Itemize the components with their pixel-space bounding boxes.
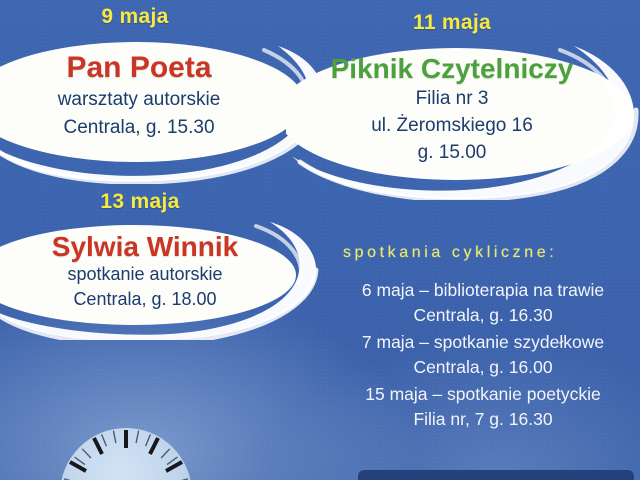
event-card-text: Piknik Czytelniczy Filia nr 3 ul. Żeroms…	[302, 54, 602, 165]
event-card-piknik-czytelniczy: 11 maja Piknik Czytelniczy Filia nr 3 ul…	[292, 0, 640, 210]
cyclic-meeting-item: 6 maja – biblioterapia na trawie Central…	[334, 278, 632, 329]
event-title: Pan Poeta	[0, 52, 278, 83]
event-line-2: ul. Żeromskiego 16	[302, 114, 602, 137]
bottom-accent-bar	[358, 470, 634, 480]
poster-canvas: 9 maja Pan Poeta warsztaty autorskie Cen…	[0, 0, 640, 480]
cyclic-meeting-item: 7 maja – spotkanie szydełkowe Centrala, …	[334, 330, 632, 381]
event-card-pan-poeta: 9 maja Pan Poeta warsztaty autorskie Cen…	[0, 0, 330, 200]
cyclic-meeting-place: Centrala, g. 16.00	[334, 355, 632, 380]
cyclic-meetings-section: spotkania cykliczne: 6 maja – bibliotera…	[334, 244, 632, 433]
event-date-label: 11 maja	[322, 11, 582, 35]
event-date-label: 13 maja	[0, 190, 280, 214]
cyclic-meeting-place: Centrala, g. 16.30	[334, 303, 632, 328]
event-card-sylwia-winnik: 13 maja Sylwia Winnik spotkanie autorski…	[0, 190, 330, 340]
event-card-text: Sylwia Winnik spotkanie autorskie Centra…	[0, 232, 290, 311]
event-card-text: Pan Poeta warsztaty autorskie Centrala, …	[0, 52, 278, 140]
event-line-3: g. 15.00	[302, 141, 602, 164]
cyclic-meetings-heading: spotkania cykliczne:	[334, 244, 632, 262]
cyclic-meeting-title: 15 maja – spotkanie poetyckie	[334, 382, 632, 407]
event-line-1: warsztaty autorskie	[0, 88, 278, 111]
event-date-label: 9 maja	[0, 5, 270, 29]
cyclic-meeting-title: 7 maja – spotkanie szydełkowe	[334, 330, 632, 355]
event-line-2: Centrala, g. 15.30	[0, 116, 278, 139]
event-line-2: Centrala, g. 18.00	[0, 289, 290, 311]
event-line-1: spotkanie autorskie	[0, 264, 290, 286]
cyclic-meeting-title: 6 maja – biblioterapia na trawie	[334, 278, 632, 303]
cyclic-meeting-item: 15 maja – spotkanie poetyckie Filia nr, …	[334, 382, 632, 433]
clock-icon	[56, 424, 196, 480]
event-title: Piknik Czytelniczy	[302, 54, 602, 83]
cyclic-meeting-place: Filia nr, 7 g. 16.30	[334, 407, 632, 432]
event-line-1: Filia nr 3	[302, 87, 602, 110]
event-title: Sylwia Winnik	[0, 232, 290, 261]
